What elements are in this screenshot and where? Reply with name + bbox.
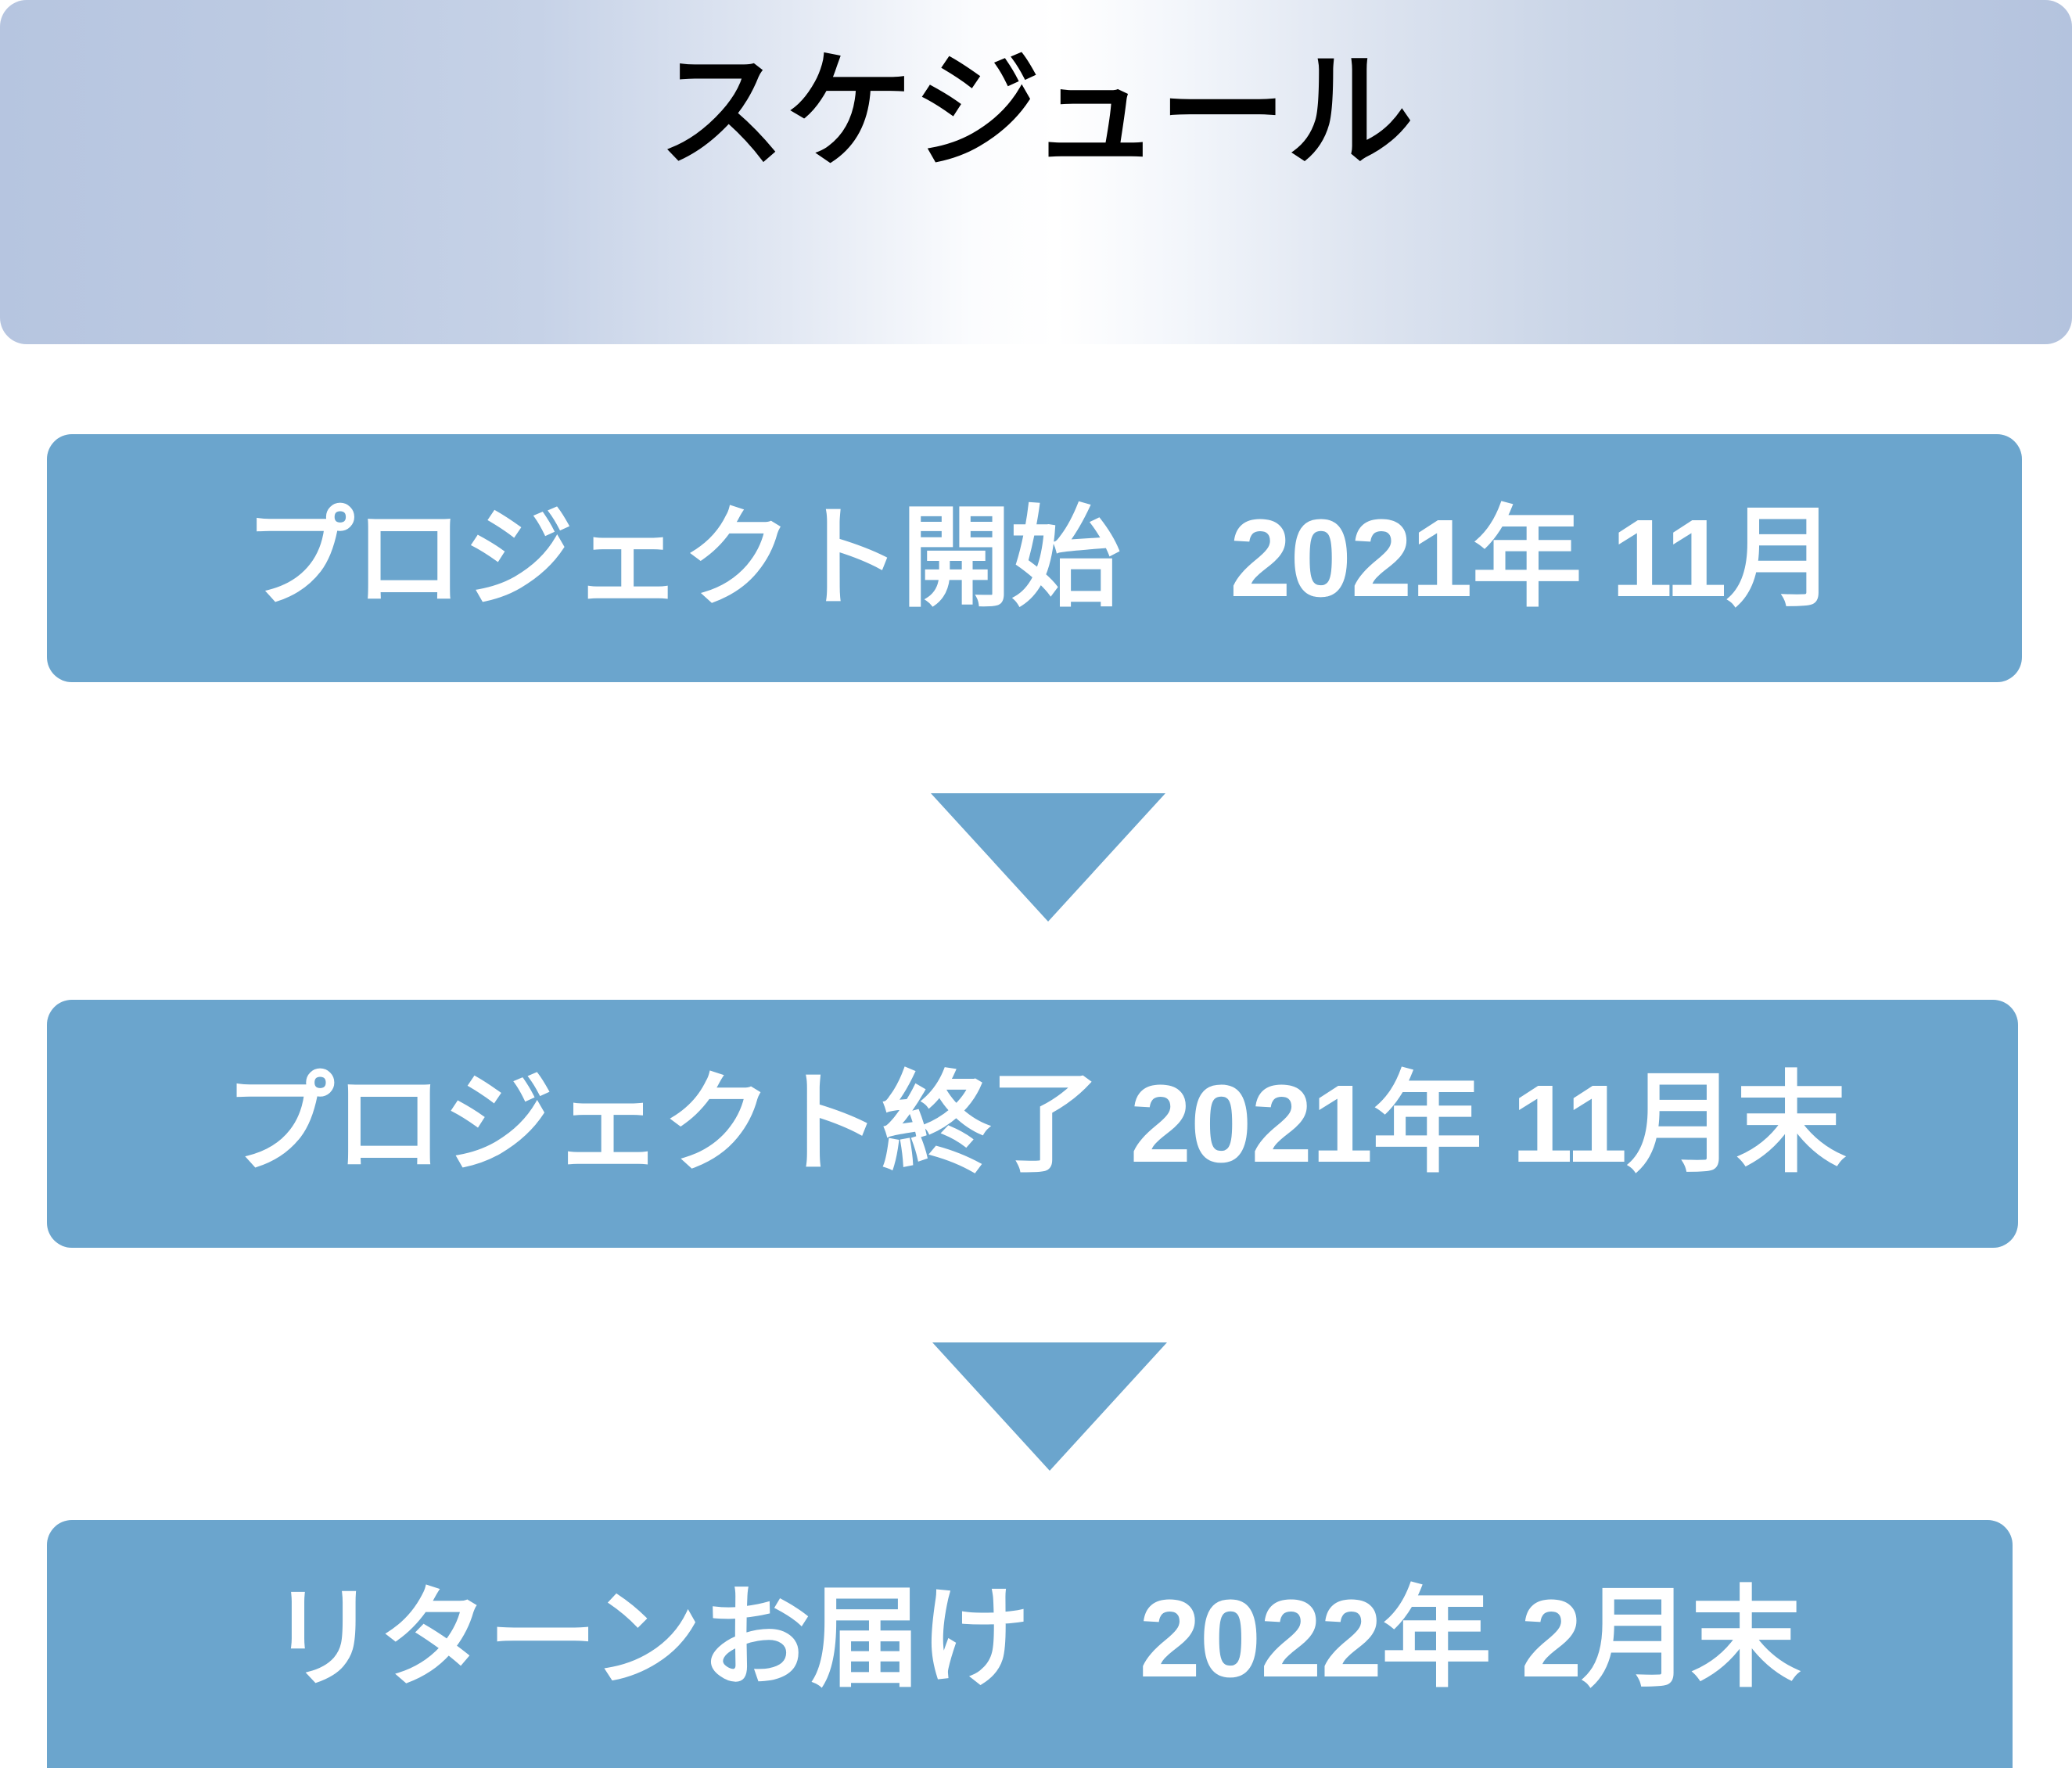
triangle-down-icon (932, 1342, 1167, 1471)
schedule-step-project-start: プロジェクト開始 2021年 11月 (47, 434, 2022, 682)
schedule-step-project-end: プロジェクト終了 2021年 11月末 (47, 1000, 2018, 1248)
schedule-step-project-start-label: プロジェクト開始 2021年 11月 (47, 503, 2022, 613)
schedule-step-return-delivery-label: リターンお届け 2022年 2月末 (47, 1583, 2013, 1705)
triangle-down-icon (931, 793, 1165, 922)
schedule-step-return-delivery: リターンお届け 2022年 2月末 (47, 1520, 2013, 1768)
schedule-header-banner: スケジュール (0, 0, 2072, 344)
schedule-step-project-end-label: プロジェクト終了 2021年 11月末 (47, 1069, 2018, 1179)
page-title: スケジュール (0, 41, 2072, 184)
